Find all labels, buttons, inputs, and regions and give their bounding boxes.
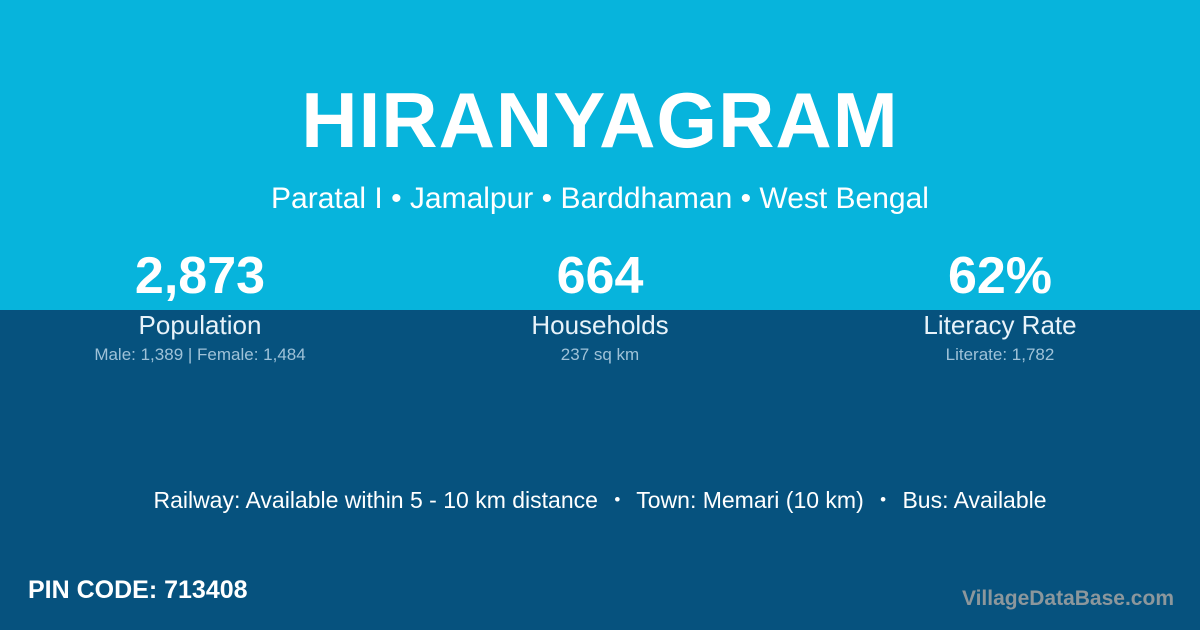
stat-value: 664 [400,248,800,310]
stat-subtext: 237 sq km [400,344,800,366]
stat-label: Households [400,310,800,344]
stat-population: 2,873 Population Male: 1,389 | Female: 1… [0,248,400,383]
stat-label: Population [0,310,400,344]
stat-households: 664 Households 237 sq km [400,248,800,383]
page-title: HIRANYAGRAM [0,78,1200,162]
stat-subtext: Male: 1,389 | Female: 1,484 [0,344,400,366]
site-watermark: VillageDataBase.com [962,586,1174,612]
amenity-bus: Bus: Available [902,487,1046,513]
stat-literacy-rate: 62% Literacy Rate Literate: 1,782 [800,248,1200,383]
village-info-card: HIRANYAGRAM Paratal I • Jamalpur • Bardd… [0,0,1200,630]
breadcrumb: Paratal I • Jamalpur • Barddhaman • West… [0,180,1200,218]
stat-value: 2,873 [0,248,400,310]
amenity-town: Town: Memari (10 km) [636,487,863,513]
pin-code-label: PIN CODE: 713408 [28,575,248,605]
amenity-railway: Railway: Available within 5 - 10 km dist… [153,487,597,513]
stats-row: 2,873 Population Male: 1,389 | Female: 1… [0,248,1200,383]
stat-subtext: Literate: 1,782 [800,344,1200,366]
amenities-line: Railway: Available within 5 - 10 km dist… [0,485,1200,515]
stat-label: Literacy Rate [800,310,1200,344]
bullet-separator-icon: • [870,485,896,515]
stat-value: 62% [800,248,1200,310]
bullet-separator-icon: • [604,485,630,515]
